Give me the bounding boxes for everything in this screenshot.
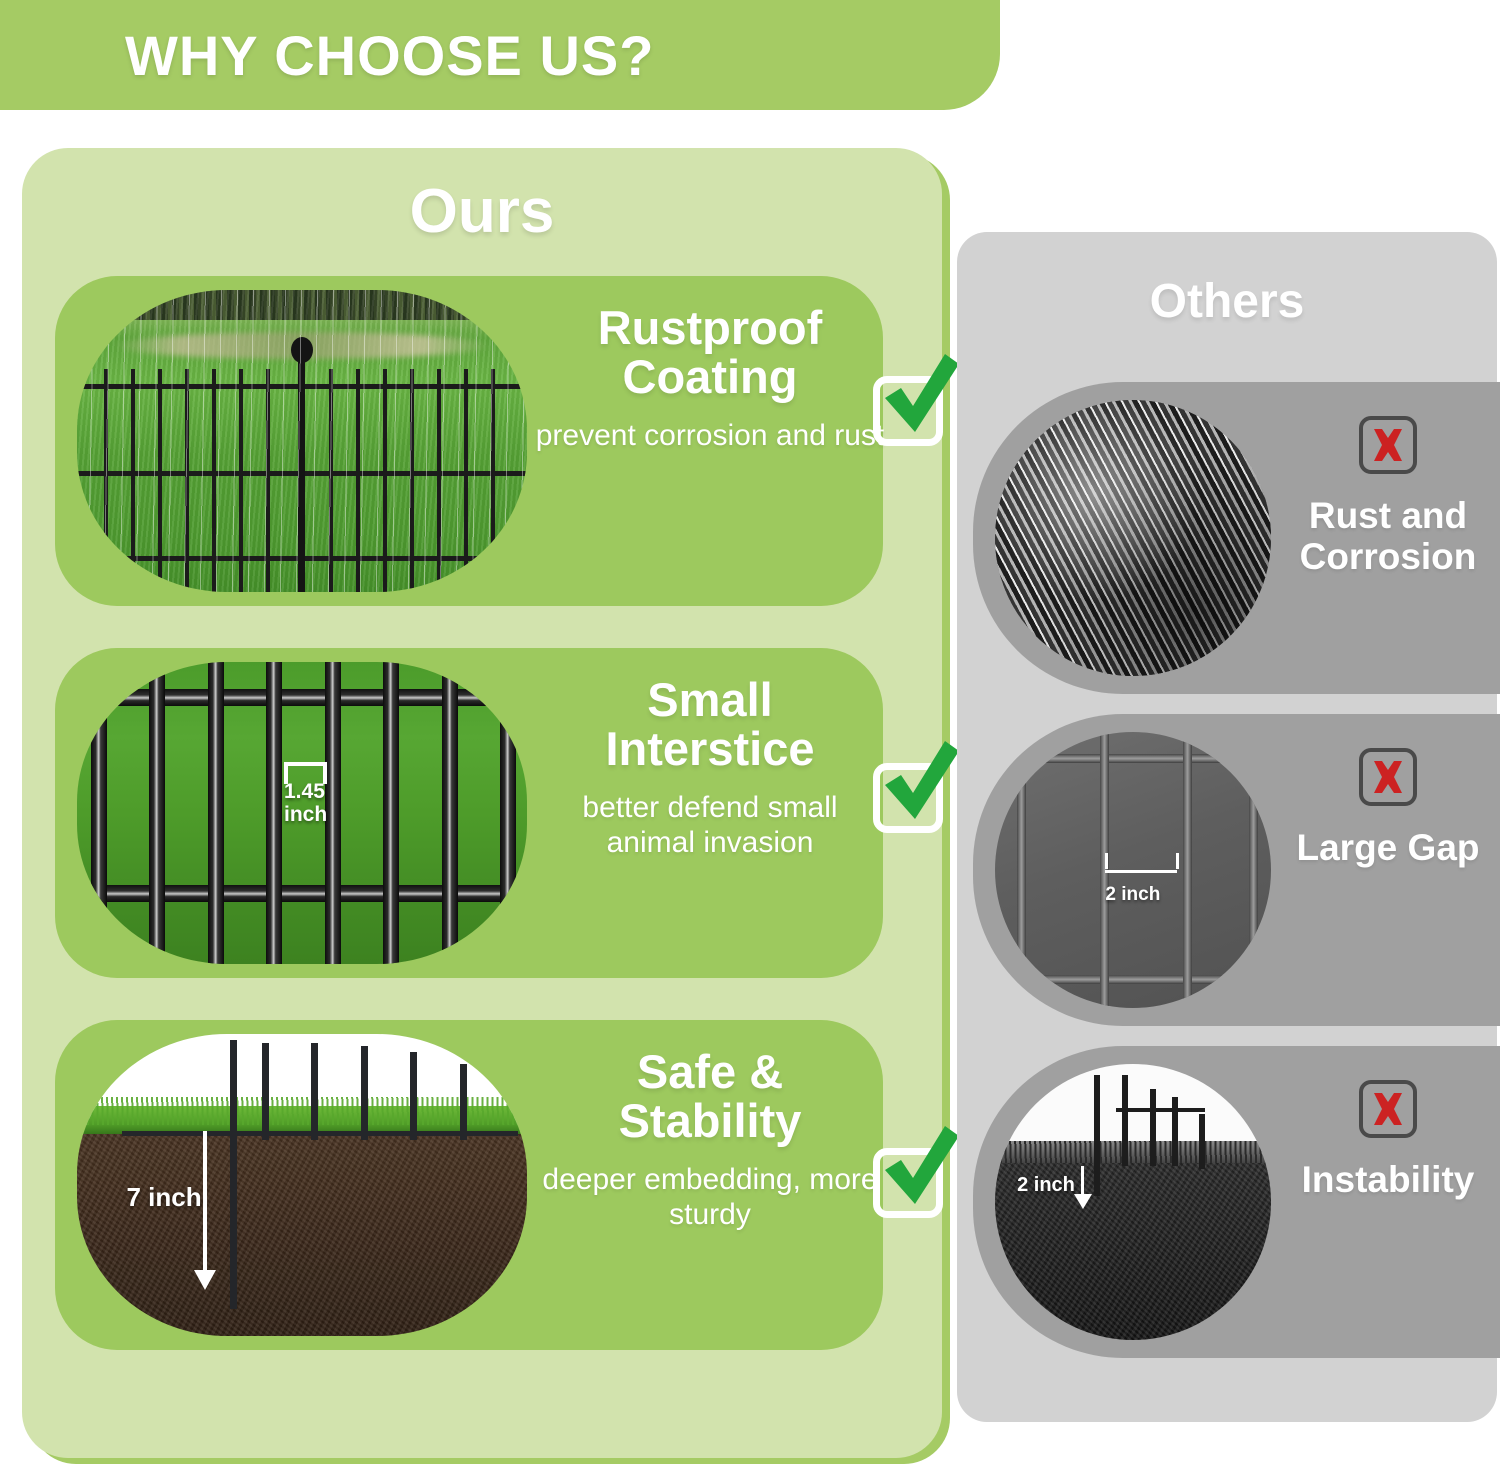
other-label: Rust and Corrosion: [1273, 496, 1500, 577]
fence-bar-closeup-photo: 1.45 inch: [77, 662, 527, 964]
feature-title: Safe & Stability: [555, 1048, 865, 1146]
feature-subtitle: better defend small animal invasion: [535, 790, 885, 861]
x-icon: [1359, 1080, 1417, 1138]
x-icon: [1359, 416, 1417, 474]
ours-panel: Ours Rustproof: [22, 148, 942, 1458]
feature-text: Small Interstice better defend small ani…: [535, 676, 885, 861]
feature-row: Rustproof Coating prevent corrosion and …: [55, 276, 883, 606]
embed-depth-label: 7 inch: [127, 1182, 202, 1213]
other-text: Large Gap: [1273, 748, 1500, 869]
feature-subtitle: deeper embedding, more sturdy: [535, 1162, 885, 1233]
other-row: Rust and Corrosion: [973, 382, 1500, 694]
feature-title: Small Interstice: [555, 676, 865, 774]
gap-width-label: 2 inch: [1105, 884, 1160, 905]
interstice-value: 1.45: [284, 780, 325, 803]
embed-depth-label: 2 inch: [1017, 1174, 1075, 1197]
other-label: Instability: [1302, 1160, 1475, 1201]
x-icon: [1359, 748, 1417, 806]
interstice-unit: inch: [284, 803, 327, 826]
other-label: Large Gap: [1297, 828, 1480, 869]
feature-subtitle: prevent corrosion and rust: [536, 418, 885, 453]
fence-stake-in-soil-photo: 7 inch: [77, 1034, 527, 1336]
fence-in-rain-photo: [77, 290, 527, 592]
other-row: 2 inch Instability: [973, 1046, 1500, 1358]
others-panel: Others Rust and Corrosion: [957, 232, 1497, 1422]
feature-title: Rustproof Coating: [555, 304, 865, 402]
feature-text: Safe & Stability deeper embedding, more …: [535, 1048, 885, 1233]
feature-row: 1.45 inch Small Interstice better defend…: [55, 648, 883, 978]
ours-heading: Ours: [22, 176, 942, 247]
feature-text: Rustproof Coating prevent corrosion and …: [535, 304, 885, 453]
other-text: Rust and Corrosion: [1273, 416, 1500, 577]
others-heading: Others: [957, 274, 1497, 329]
header-banner: WHY CHOOSE US?: [0, 0, 1000, 110]
rusty-wire-roll-photo: [995, 400, 1271, 676]
feature-row: 7 inch Safe & Stability deeper embedding…: [55, 1020, 883, 1350]
shallow-stake-soil-photo: 2 inch: [995, 1064, 1271, 1340]
page-title: WHY CHOOSE US?: [0, 0, 1000, 110]
wide-gap-fence-photo: 2 inch: [995, 732, 1271, 1008]
other-text: Instability: [1273, 1080, 1500, 1201]
other-row: 2 inch Large Gap: [973, 714, 1500, 1026]
